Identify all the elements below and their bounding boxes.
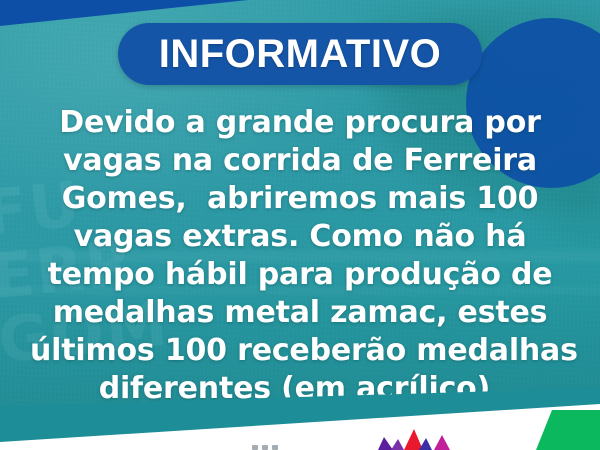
body-line: Gomes, abriremos mais 100 — [30, 180, 570, 218]
informativo-badge-label: INFORMATIVO — [159, 34, 442, 74]
caption-glyph — [262, 445, 268, 450]
caption-glyph — [252, 445, 258, 450]
bottom-logo-caption — [252, 440, 342, 450]
informativo-badge: INFORMATIVO — [118, 23, 482, 85]
body-line: vagas na corrida de Ferreira — [30, 142, 570, 180]
announcement-body-text: Devido a grande procura por vagas na cor… — [30, 104, 570, 408]
informative-poster: FU ERR GOM INFORMATIVO Devido a grande p… — [0, 0, 600, 450]
body-line: últimos 100 receberão medalhas — [30, 332, 570, 370]
body-line: tempo hábil para produção de — [30, 256, 570, 294]
body-line: Devido a grande procura por — [30, 104, 570, 142]
body-line: vagas extras. Como não há — [30, 218, 570, 256]
caption-glyph — [272, 445, 278, 450]
body-line: medalhas metal zamac, estes — [30, 294, 570, 332]
multicolor-flame-logo — [374, 428, 460, 450]
